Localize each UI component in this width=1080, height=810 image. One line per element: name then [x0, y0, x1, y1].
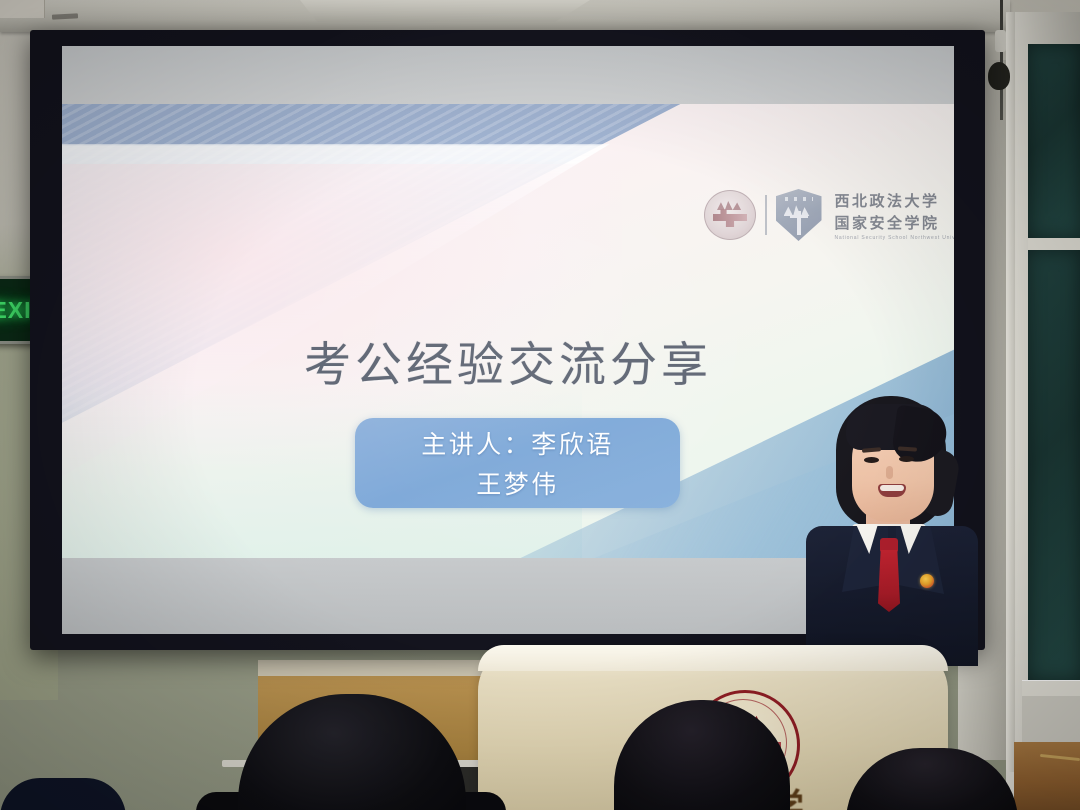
presenter-nose	[886, 466, 893, 479]
blackboard-underwall	[1022, 696, 1080, 742]
logo-text-block: 西北政法大学 国家安全学院 National Security School N…	[835, 190, 955, 241]
presenter	[790, 392, 1000, 662]
screen-pull-cord[interactable]	[1000, 0, 1003, 120]
slide-logo-group: 西北政法大学 国家安全学院 National Security School N…	[704, 184, 954, 246]
blackboard-rail	[1022, 680, 1080, 697]
valance-end-cap	[0, 0, 45, 18]
logo-university-name: 西北政法大学	[835, 190, 955, 211]
shield-dots	[785, 197, 813, 201]
blackboard-frame-edge	[1006, 12, 1015, 772]
slide-subtitle-line-1: 主讲人：李欣语	[421, 425, 614, 461]
presenter-eye-right	[899, 456, 914, 462]
screen-valance	[0, 0, 1010, 32]
blackboard-panel-lower	[1028, 250, 1080, 680]
emblem-peaks-motif	[717, 199, 745, 210]
presenter-lapel-badge	[920, 574, 934, 588]
screen-top-margin	[62, 46, 954, 106]
national-security-shield-icon	[776, 189, 822, 241]
screen-cord-knob[interactable]	[988, 62, 1010, 90]
logo-divider	[765, 195, 767, 235]
logo-english-name: National Security School Northwest Unive…	[835, 235, 955, 241]
shield-sword-guard	[790, 215, 808, 218]
screen-cord-clip	[995, 30, 1006, 52]
slide-title: 考公经验交流分享	[62, 326, 954, 395]
podium-top-surface	[478, 645, 948, 671]
presenter-eye-left	[864, 457, 879, 463]
slide-subtitle-box: 主讲人：李欣语 王梦伟	[355, 418, 680, 508]
blackboard-panel-upper	[1028, 44, 1080, 238]
emblem-character-mark	[713, 207, 747, 227]
wood-floor	[1014, 742, 1080, 810]
valance-notch	[300, 0, 590, 22]
slide-subtitle-line-2: 王梦伟	[476, 465, 559, 501]
lecture-hall-photo: EXIT	[0, 0, 1080, 810]
logo-school-name: 国家安全学院	[835, 212, 955, 233]
presenter-teeth	[880, 485, 904, 491]
valance-label-mark	[52, 13, 78, 19]
university-circular-emblem-icon	[704, 190, 756, 240]
presenter-necktie	[878, 550, 900, 612]
blackboard-divider	[1028, 238, 1080, 250]
